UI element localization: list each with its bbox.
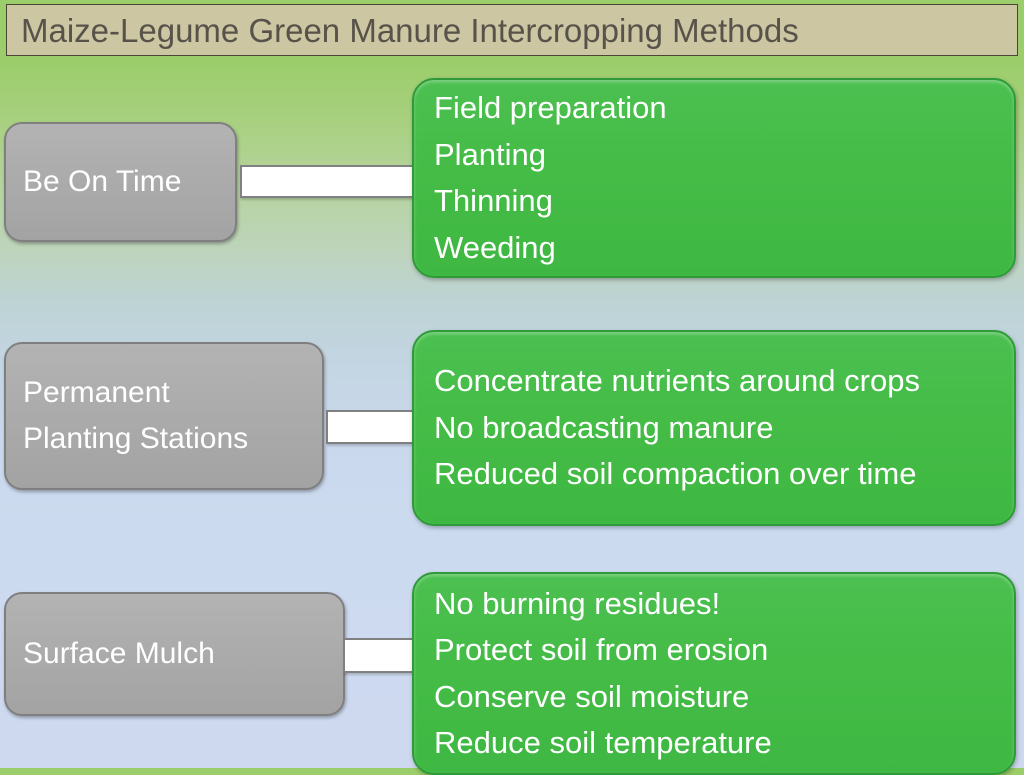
connector-bar-1 [240, 165, 416, 198]
list-item: Reduced soil compaction over time [434, 451, 1014, 498]
label-box-be-on-time[interactable]: Be On Time [4, 122, 237, 242]
page-title: Maize-Legume Green Manure Intercropping … [7, 14, 799, 47]
label-box-text: Permanent Planting Stations [23, 370, 248, 461]
content-box-be-on-time[interactable]: Field preparation Planting Thinning Weed… [412, 78, 1016, 278]
list-item: Planting [434, 132, 1014, 179]
content-box-surface-mulch[interactable]: No burning residues! Protect soil from e… [412, 572, 1016, 775]
list-item: No broadcasting manure [434, 405, 1014, 452]
list-item: Weeding [434, 225, 1014, 272]
content-box-permanent-planting-stations[interactable]: Concentrate nutrients around crops No br… [412, 330, 1016, 526]
list-item: No burning residues! [434, 581, 1014, 628]
list-item: Thinning [434, 178, 1014, 225]
slide-title-bar: Maize-Legume Green Manure Intercropping … [6, 4, 1018, 56]
list-item: Reduce soil temperature [434, 720, 1014, 767]
list-item: Conserve soil moisture [434, 674, 1014, 721]
label-box-text: Surface Mulch [23, 631, 215, 677]
connector-bar-2 [326, 410, 416, 444]
connector-bar-3 [343, 638, 416, 673]
label-box-permanent-planting-stations[interactable]: Permanent Planting Stations [4, 342, 324, 490]
label-box-text: Be On Time [23, 159, 181, 205]
label-box-surface-mulch[interactable]: Surface Mulch [4, 592, 345, 716]
list-item: Protect soil from erosion [434, 627, 1014, 674]
list-item: Field preparation [434, 85, 1014, 132]
list-item: Concentrate nutrients around crops [434, 358, 1014, 405]
